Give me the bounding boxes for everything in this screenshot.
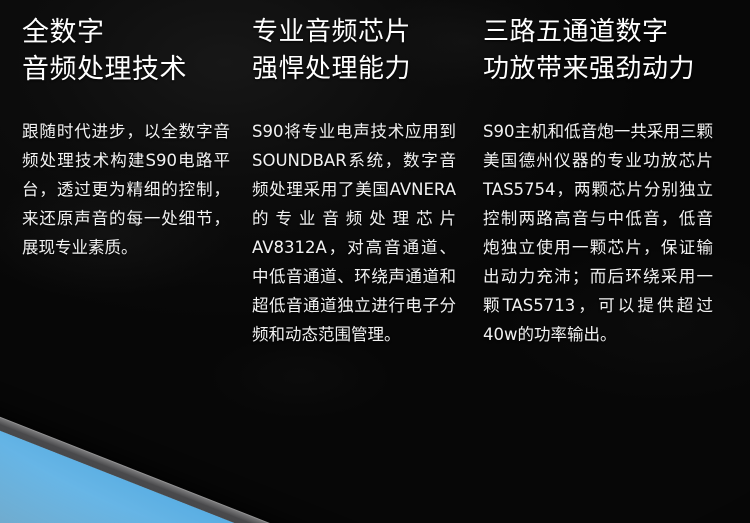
feature-column-amplifier: 三路五通道数字 功放带来强劲动力 S90主机和低音炮一共采用三颗美国德州仪器的专… — [483, 0, 713, 349]
column-heading: 全数字 音频处理技术 — [22, 14, 230, 88]
column-body-text: S90主机和低音炮一共采用三颗美国德州仪器的专业功放芯片TAS5754，两颗芯片… — [483, 117, 713, 349]
column-heading-line1: 专业音频芯片 — [252, 14, 456, 51]
feature-columns: 全数字 音频处理技术 跟随时代进步，以全数字音频处理技术构建S90电路平台，透过… — [0, 0, 750, 523]
promo-panel: 全数字 音频处理技术 跟随时代进步，以全数字音频处理技术构建S90电路平台，透过… — [0, 0, 750, 523]
column-heading-line2: 强悍处理能力 — [252, 51, 456, 88]
column-body-text: S90将专业电声技术应用到SOUNDBAR系统，数字音频处理采用了美国AVNER… — [252, 117, 456, 349]
feature-column-audio-chip: 专业音频芯片 强悍处理能力 S90将专业电声技术应用到SOUNDBAR系统，数字… — [252, 0, 456, 349]
column-heading-line2: 功放带来强劲动力 — [483, 51, 713, 88]
feature-column-digital-audio: 全数字 音频处理技术 跟随时代进步，以全数字音频处理技术构建S90电路平台，透过… — [22, 0, 230, 262]
column-heading-line2: 音频处理技术 — [22, 51, 230, 88]
column-heading-line1: 全数字 — [22, 14, 230, 51]
column-heading: 三路五通道数字 功放带来强劲动力 — [483, 14, 713, 88]
column-heading-line1: 三路五通道数字 — [483, 14, 713, 51]
column-body-text: 跟随时代进步，以全数字音频处理技术构建S90电路平台，透过更为精细的控制，来还原… — [22, 117, 230, 262]
column-heading: 专业音频芯片 强悍处理能力 — [252, 14, 456, 88]
